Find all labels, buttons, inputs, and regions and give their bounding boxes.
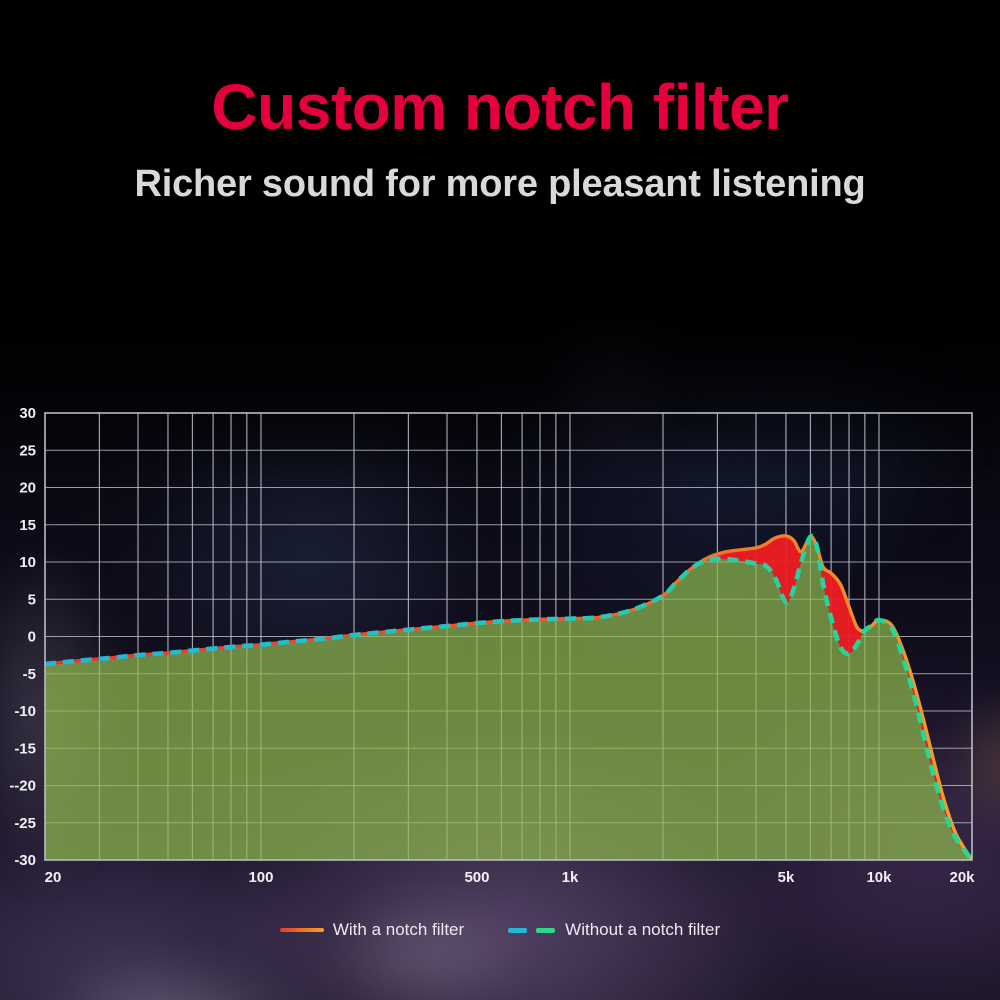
y-axis-labels: 302520151050-5-10-15--20-25-30 [9,405,36,869]
y-tick-label: 10 [19,554,36,571]
x-tick-label: 10k [866,869,892,886]
legend-label-without: Without a notch filter [565,920,720,940]
page-subtitle: Richer sound for more pleasant listening [0,163,1000,206]
promo-graphic: Custom notch filter Richer sound for mor… [0,0,1000,1000]
y-tick-label: 20 [19,480,36,497]
y-tick-label: 0 [28,629,36,646]
x-tick-label: 500 [464,869,489,886]
y-tick-label: -5 [23,666,36,683]
headings-block: Custom notch filter Richer sound for mor… [0,0,1000,206]
y-tick-label: 5 [28,591,36,608]
y-tick-label: -10 [14,703,36,720]
page-title: Custom notch filter [0,74,1000,141]
y-tick-label: -15 [14,740,36,757]
dashed-line-icon [508,928,556,933]
x-tick-label: 20k [949,869,975,886]
legend-label-with: With a notch filter [333,920,464,940]
y-tick-label: -25 [14,815,36,832]
y-tick-label: -30 [14,852,36,869]
x-tick-label: 20 [45,869,62,886]
x-tick-label: 5k [778,869,795,886]
y-tick-label: 25 [19,442,36,459]
x-tick-label: 1k [562,869,579,886]
x-axis-labels: 201005001k5k10k20k [45,869,976,886]
y-tick-label: 30 [19,405,36,422]
solid-line-icon [280,928,324,932]
y-tick-label: 15 [19,517,36,534]
chart-legend: With a notch filter Without a notch filt… [0,920,1000,940]
x-tick-label: 100 [248,869,273,886]
legend-item-without-notch-filter[interactable]: Without a notch filter [508,920,720,940]
y-tick-label: --20 [9,778,36,795]
legend-item-with-notch-filter[interactable]: With a notch filter [280,920,464,940]
